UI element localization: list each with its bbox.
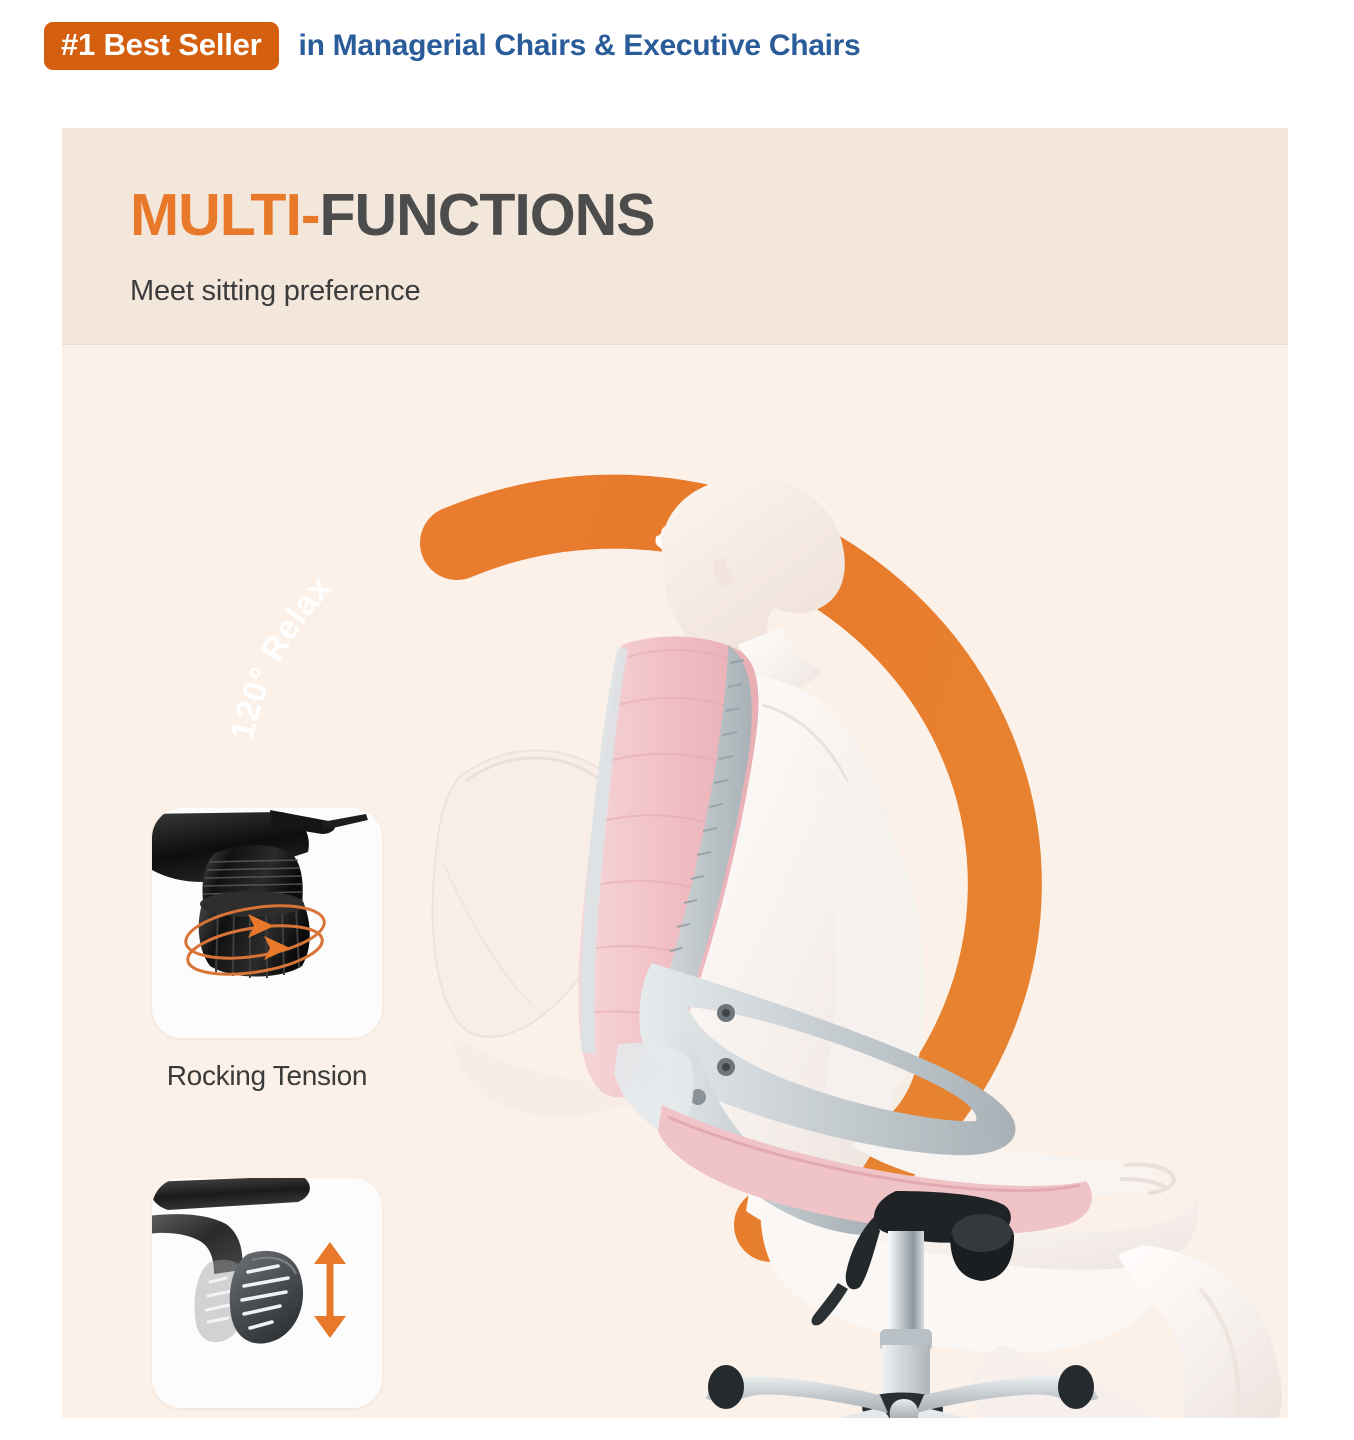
height-lever-photo — [152, 1178, 382, 1408]
arc-label-relax: 120° Relax — [223, 568, 338, 743]
page-title-accent: MULTI- — [130, 182, 320, 248]
page-title: MULTI-FUNCTIONS — [130, 186, 655, 245]
feature-card-adjustable-height[interactable]: Adjustable Height — [152, 1178, 382, 1418]
page-title-rest: FUNCTIONS — [320, 182, 655, 248]
tension-knob-photo — [152, 808, 382, 1038]
feature-label-rocking-tension: Rocking Tension — [152, 1060, 382, 1092]
best-seller-category-link[interactable]: in Managerial Chairs & Executive Chairs — [299, 29, 861, 63]
illustration-stage: 120° Relax 90° Work — [62, 345, 1288, 1418]
caster-wheel — [708, 1365, 744, 1409]
page-subtitle: Meet sitting preference — [130, 275, 420, 308]
multi-functions-panel: MULTI-FUNCTIONS Meet sitting preference — [62, 128, 1288, 1418]
feature-card-rocking-tension[interactable]: Rocking Tension — [152, 808, 382, 1092]
caster-wheel — [1058, 1365, 1094, 1409]
rocking-tension-thumbnail — [152, 808, 382, 1038]
best-seller-badge: #1 Best Seller — [44, 22, 279, 71]
adjustable-height-thumbnail — [152, 1178, 382, 1408]
best-seller-bar: #1 Best Seller in Managerial Chairs & Ex… — [0, 0, 1354, 92]
